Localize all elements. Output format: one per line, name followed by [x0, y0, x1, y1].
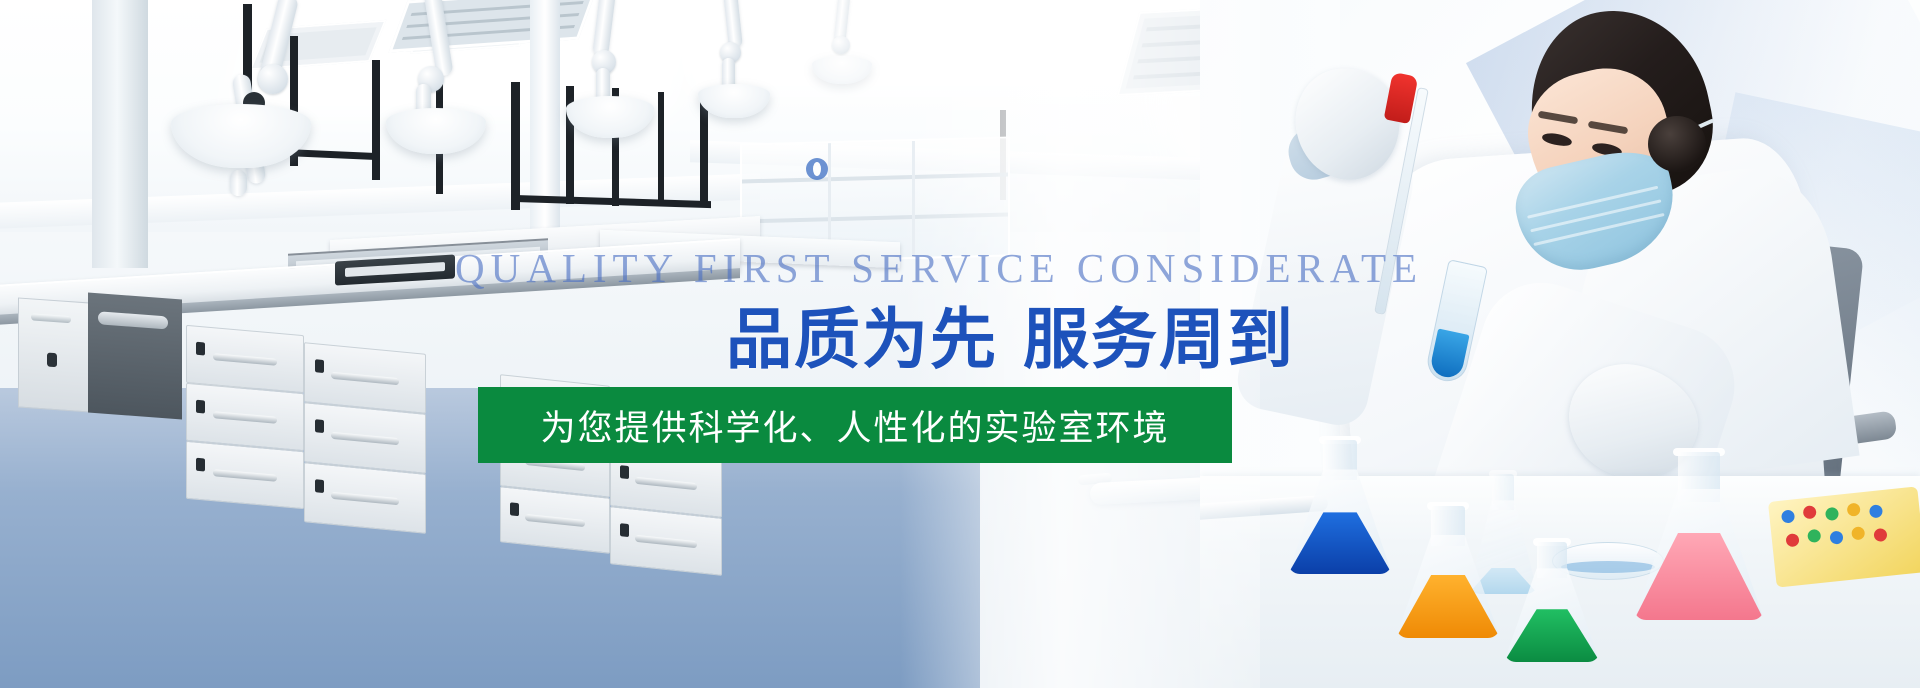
- headline-title: 品质为先 服务周到: [726, 305, 1295, 374]
- banner-copy: QUALITY FIRST SERVICE CONSIDERATE 品质为先 服…: [0, 0, 1920, 688]
- subline-text: 为您提供科学化、人性化的实验室环境: [540, 400, 1169, 451]
- english-tagline: QUALITY FIRST SERVICE CONSIDERATE: [455, 248, 1423, 289]
- lab-hero-banner: QUALITY FIRST SERVICE CONSIDERATE 品质为先 服…: [0, 0, 1920, 688]
- subline-green-bar: 为您提供科学化、人性化的实验室环境: [478, 387, 1232, 463]
